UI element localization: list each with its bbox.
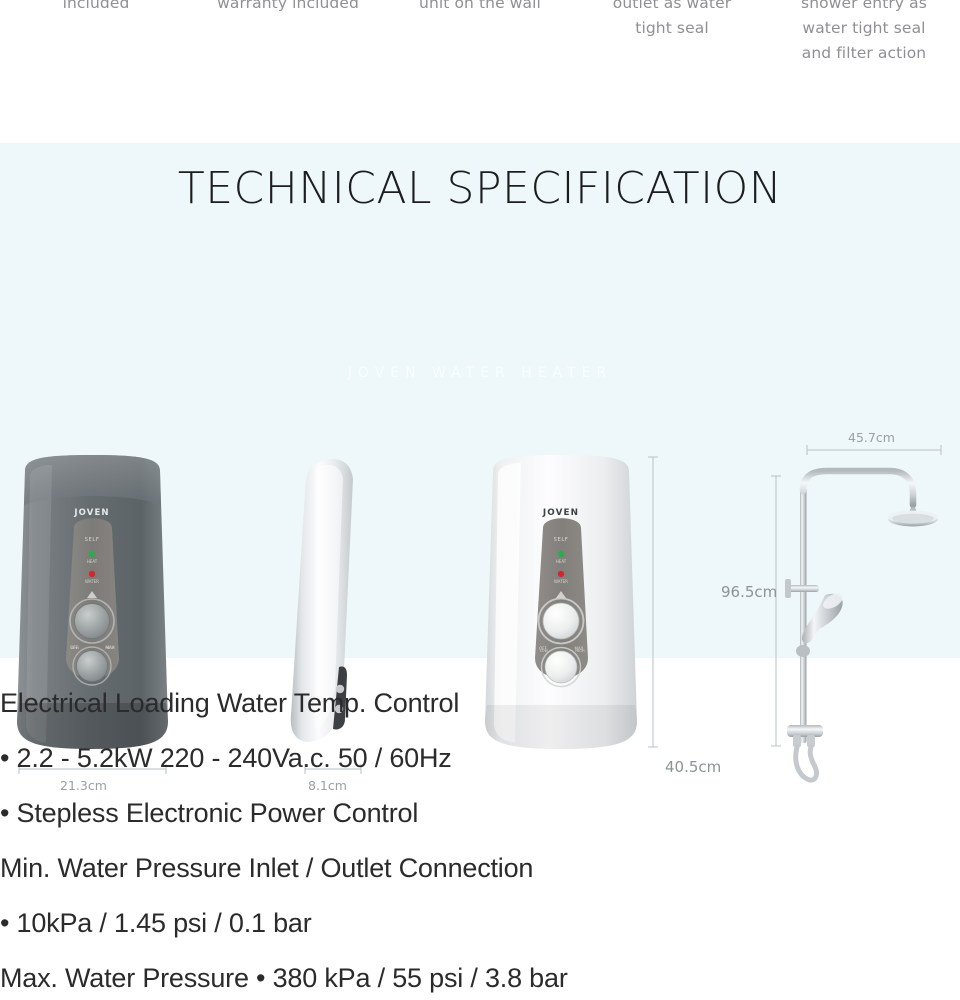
feature-text: U bolt to mount unit on the wall [418, 0, 541, 12]
spec-line: • Stepless Electronic Power Control [0, 800, 960, 827]
led-alert-label: WATER [85, 579, 99, 584]
feature-column: Local language included [0, 0, 192, 16]
specification-text-block: Electrical Loading Water Temp. Control •… [0, 690, 960, 992]
feature-text: placed at inlet and outlet as water tigh… [598, 0, 745, 37]
spec-line: Min. Water Pressure Inlet / Outlet Conne… [0, 855, 960, 882]
feature-text: Local product warranty included [217, 0, 359, 12]
page-title: TECHNICAL SPECIFICATION [0, 163, 960, 214]
spec-line: Electrical Loading Water Temp. Control [0, 690, 960, 717]
led-power-indicator [89, 551, 95, 557]
spec-line: • 2.2 - 5.2kW 220 - 240Va.c. 50 / 60Hz [0, 745, 960, 772]
panel-mode-label: SELF [85, 537, 100, 543]
led-power-label: HEAT [87, 559, 98, 564]
temperature-knob[interactable] [543, 603, 579, 639]
feature-text: Local language included [37, 0, 156, 12]
brand-logo: JOVEN [542, 508, 579, 518]
feature-column: placed at inlet and outlet as water tigh… [576, 0, 768, 41]
feature-blurb-row: Local language included Local product wa… [0, 0, 960, 86]
technical-specification-panel: TECHNICAL SPECIFICATION JOVEN WATER HEAT… [0, 143, 960, 658]
spec-line: Max. Water Pressure • 380 kPa / 55 psi /… [0, 965, 960, 992]
knob2-high-label: HIGH [575, 649, 585, 653]
slider-ring[interactable] [796, 645, 810, 657]
led-power-indicator [558, 551, 564, 557]
flow-knob[interactable] [545, 651, 577, 683]
dimension-label-shower-width: 45.7cm [848, 430, 895, 445]
temperature-knob[interactable] [75, 604, 110, 639]
feature-column: Local product warranty included [192, 0, 384, 16]
rain-shower-head [892, 514, 934, 524]
spec-line: • 10kPa / 1.45 psi / 0.1 bar [0, 910, 960, 937]
upper-wall-bracket [787, 585, 819, 592]
led-alert-label: WATER [554, 579, 568, 584]
dimension-label-shower-height: 96.5cm [721, 583, 777, 601]
flow-knob[interactable] [77, 651, 108, 682]
led-power-label: HEAT [556, 559, 567, 564]
panel-mode-label: SELF [554, 537, 569, 543]
feature-text: placed at hand shower entry as water tig… [801, 0, 927, 62]
knob2-low-label: LOW [540, 649, 549, 653]
product-spec-page: Local language included Local product wa… [0, 0, 960, 1000]
feature-column: placed at hand shower entry as water tig… [768, 0, 960, 66]
brand-logo: JOVEN [73, 508, 109, 518]
led-alert-indicator [89, 571, 95, 577]
knob2-low-label: LOW [71, 646, 80, 650]
knob2-high-label: HIGH [105, 646, 115, 650]
led-alert-indicator [558, 571, 564, 577]
product-figures: SELF HEAT WATER OFF MAX LOW HI [0, 313, 960, 658]
feature-column: U bolt to mount unit on the wall [384, 0, 576, 16]
